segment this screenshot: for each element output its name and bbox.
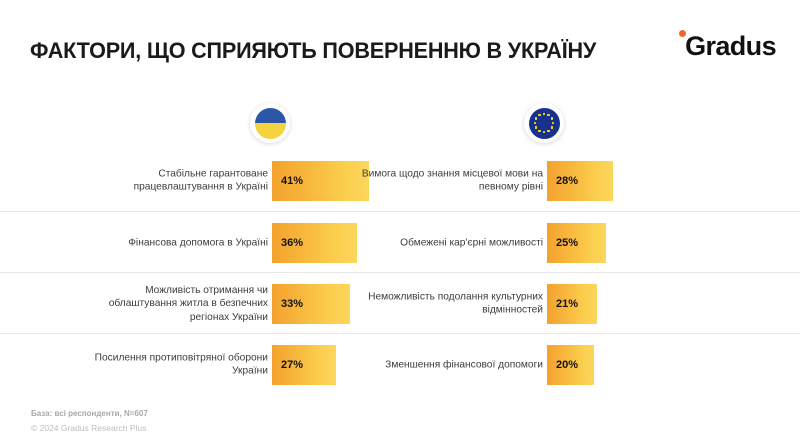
page-title: ФАКТОРИ, ЩО СПРИЯЮТЬ ПОВЕРНЕННЮ В УКРАЇН… [30, 38, 596, 64]
eu-star-icon [543, 113, 546, 116]
chart-cell-eu-factors: Неможливість подолання культурних відмін… [335, 273, 665, 334]
category-label: Зменшення фінансової допомоги [353, 358, 543, 372]
column-header-eu [524, 103, 564, 143]
flag-stripe-blue [255, 108, 286, 124]
bar[interactable]: 25% [547, 223, 606, 263]
chart-area: Стабільне гарантоване працевлаштування в… [0, 95, 800, 395]
bar-value-label: 41% [281, 175, 303, 187]
chart-row: Стабільне гарантоване працевлаштування в… [0, 150, 800, 211]
chart-cell-eu-factors: Обмежені кар'єрні можливості25% [335, 212, 665, 273]
bar-track: 21% [547, 284, 665, 324]
category-label: Посилення протиповітряної оборони Україн… [78, 351, 268, 378]
eu-star-icon [535, 117, 538, 120]
bar-track: 25% [547, 223, 665, 263]
category-label: Вимога щодо знання місцевої мови на певн… [353, 167, 543, 194]
bar-value-label: 20% [556, 359, 578, 371]
european-union-flag-icon [529, 108, 560, 139]
category-label: Обмежені кар'єрні можливості [353, 236, 543, 250]
chart-row: Фінансова допомога в Україні36%Обмежені … [0, 211, 800, 272]
footer-base-note: База: всі респонденти, N=607 [31, 409, 148, 418]
bar-track: 28% [547, 161, 665, 201]
bar-track: 20% [547, 345, 665, 385]
eu-star-icon [538, 114, 541, 117]
ukraine-flag-icon [255, 108, 286, 139]
bar[interactable]: 28% [547, 161, 613, 201]
bar[interactable]: 20% [547, 345, 594, 385]
bar-value-label: 28% [556, 175, 578, 187]
bar[interactable]: 27% [272, 345, 336, 385]
page-header: ФАКТОРИ, ЩО СПРИЯЮТЬ ПОВЕРНЕННЮ В УКРАЇН… [0, 0, 800, 90]
category-label: Стабільне гарантоване працевлаштування в… [78, 167, 268, 194]
category-label: Неможливість подолання культурних відмін… [353, 290, 543, 317]
bar-value-label: 27% [281, 359, 303, 371]
eu-star-icon [534, 122, 537, 125]
eu-star-icon [535, 126, 538, 129]
chart-cell-eu-factors: Зменшення фінансової допомоги20% [335, 334, 665, 395]
eu-star-icon [547, 130, 550, 133]
bar[interactable]: 21% [547, 284, 597, 324]
bar-value-label: 33% [281, 298, 303, 310]
chart-row: Посилення протиповітряної оборони Україн… [0, 333, 800, 394]
chart-row: Можливість отримання чи облаштування жит… [0, 272, 800, 333]
chart-rows: Стабільне гарантоване працевлаштування в… [0, 150, 800, 394]
eu-star-icon [551, 126, 554, 129]
eu-star-icon [547, 114, 550, 117]
flag-eu-field [529, 108, 560, 139]
category-label: Фінансова допомога в Україні [78, 236, 268, 250]
column-flags [0, 95, 800, 150]
bar-value-label: 36% [281, 237, 303, 249]
logo-wordmark: Gradus [685, 31, 776, 61]
chart-cell-eu-factors: Вимога щодо знання місцевої мови на певн… [335, 150, 665, 211]
eu-star-icon [538, 130, 541, 133]
bar-value-label: 21% [556, 298, 578, 310]
eu-star-icon [552, 122, 555, 125]
eu-star-icon [551, 117, 554, 120]
bar-value-label: 25% [556, 237, 578, 249]
gradus-logo: Gradus [679, 29, 776, 63]
category-label: Можливість отримання чи облаштування жит… [78, 283, 268, 324]
column-header-ukraine [250, 103, 290, 143]
eu-star-icon [543, 131, 546, 134]
flag-stripe-yellow [255, 123, 286, 139]
footer: База: всі респонденти, N=607 © 2024 Grad… [31, 409, 148, 433]
footer-copyright: © 2024 Gradus Research Plus [31, 423, 148, 433]
